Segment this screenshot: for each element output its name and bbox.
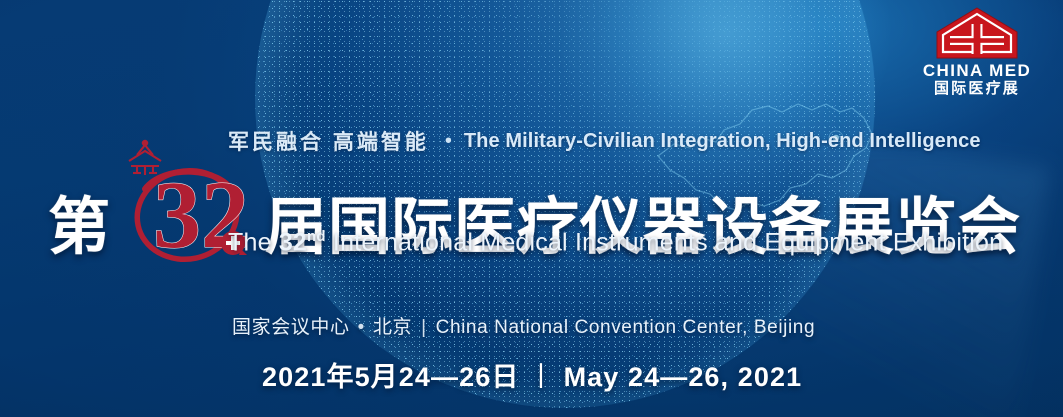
logo-name-en: CHINA MED [913,62,1041,80]
tagline-row: 军民融合 高端智能 • The Military-Civilian Integr… [228,126,981,156]
subtitle-rest: International Medical Instruments and Eq… [326,228,1003,256]
tagline-en: The Military-Civilian Integration, High-… [464,130,981,153]
china-med-logo[interactable]: CHINA MED 国际医疗展 [913,6,1041,97]
venue-city-cn: 北京 [373,317,412,338]
venue-cn: 国家会议中心 [232,317,350,338]
date-pipe: 丨 [527,362,555,392]
subtitle-ordinal: nd [307,228,326,245]
venue-en: China National Convention Center, Beijin… [436,317,816,338]
date-cn: 2021年5月24—26日 [262,362,519,392]
red-house-cross-logo-icon [934,6,1020,60]
headline-subtitle-en: The 32nd International Medical Instrumen… [228,228,1003,257]
headline-prefix-cn: 第 [48,197,111,259]
logo-name-cn: 国际医疗展 [913,81,1041,98]
venue-pipe: | [421,317,427,338]
venue-separator-dot: • [358,317,365,338]
exhibition-banner-poster: CHINA MED 国际医疗展 军民融合 高端智能 • The Military… [0,0,1063,417]
venue-line: 国家会议中心•北京|China National Convention Cent… [232,312,815,339]
tagline-separator-dot: • [445,131,452,151]
date-line: 2021年5月24—26日丨May 24—26, 2021 [262,355,802,394]
subtitle-number: 32 [279,228,307,256]
subtitle-lead: The [228,228,279,256]
date-en: May 24—26, 2021 [564,362,803,392]
